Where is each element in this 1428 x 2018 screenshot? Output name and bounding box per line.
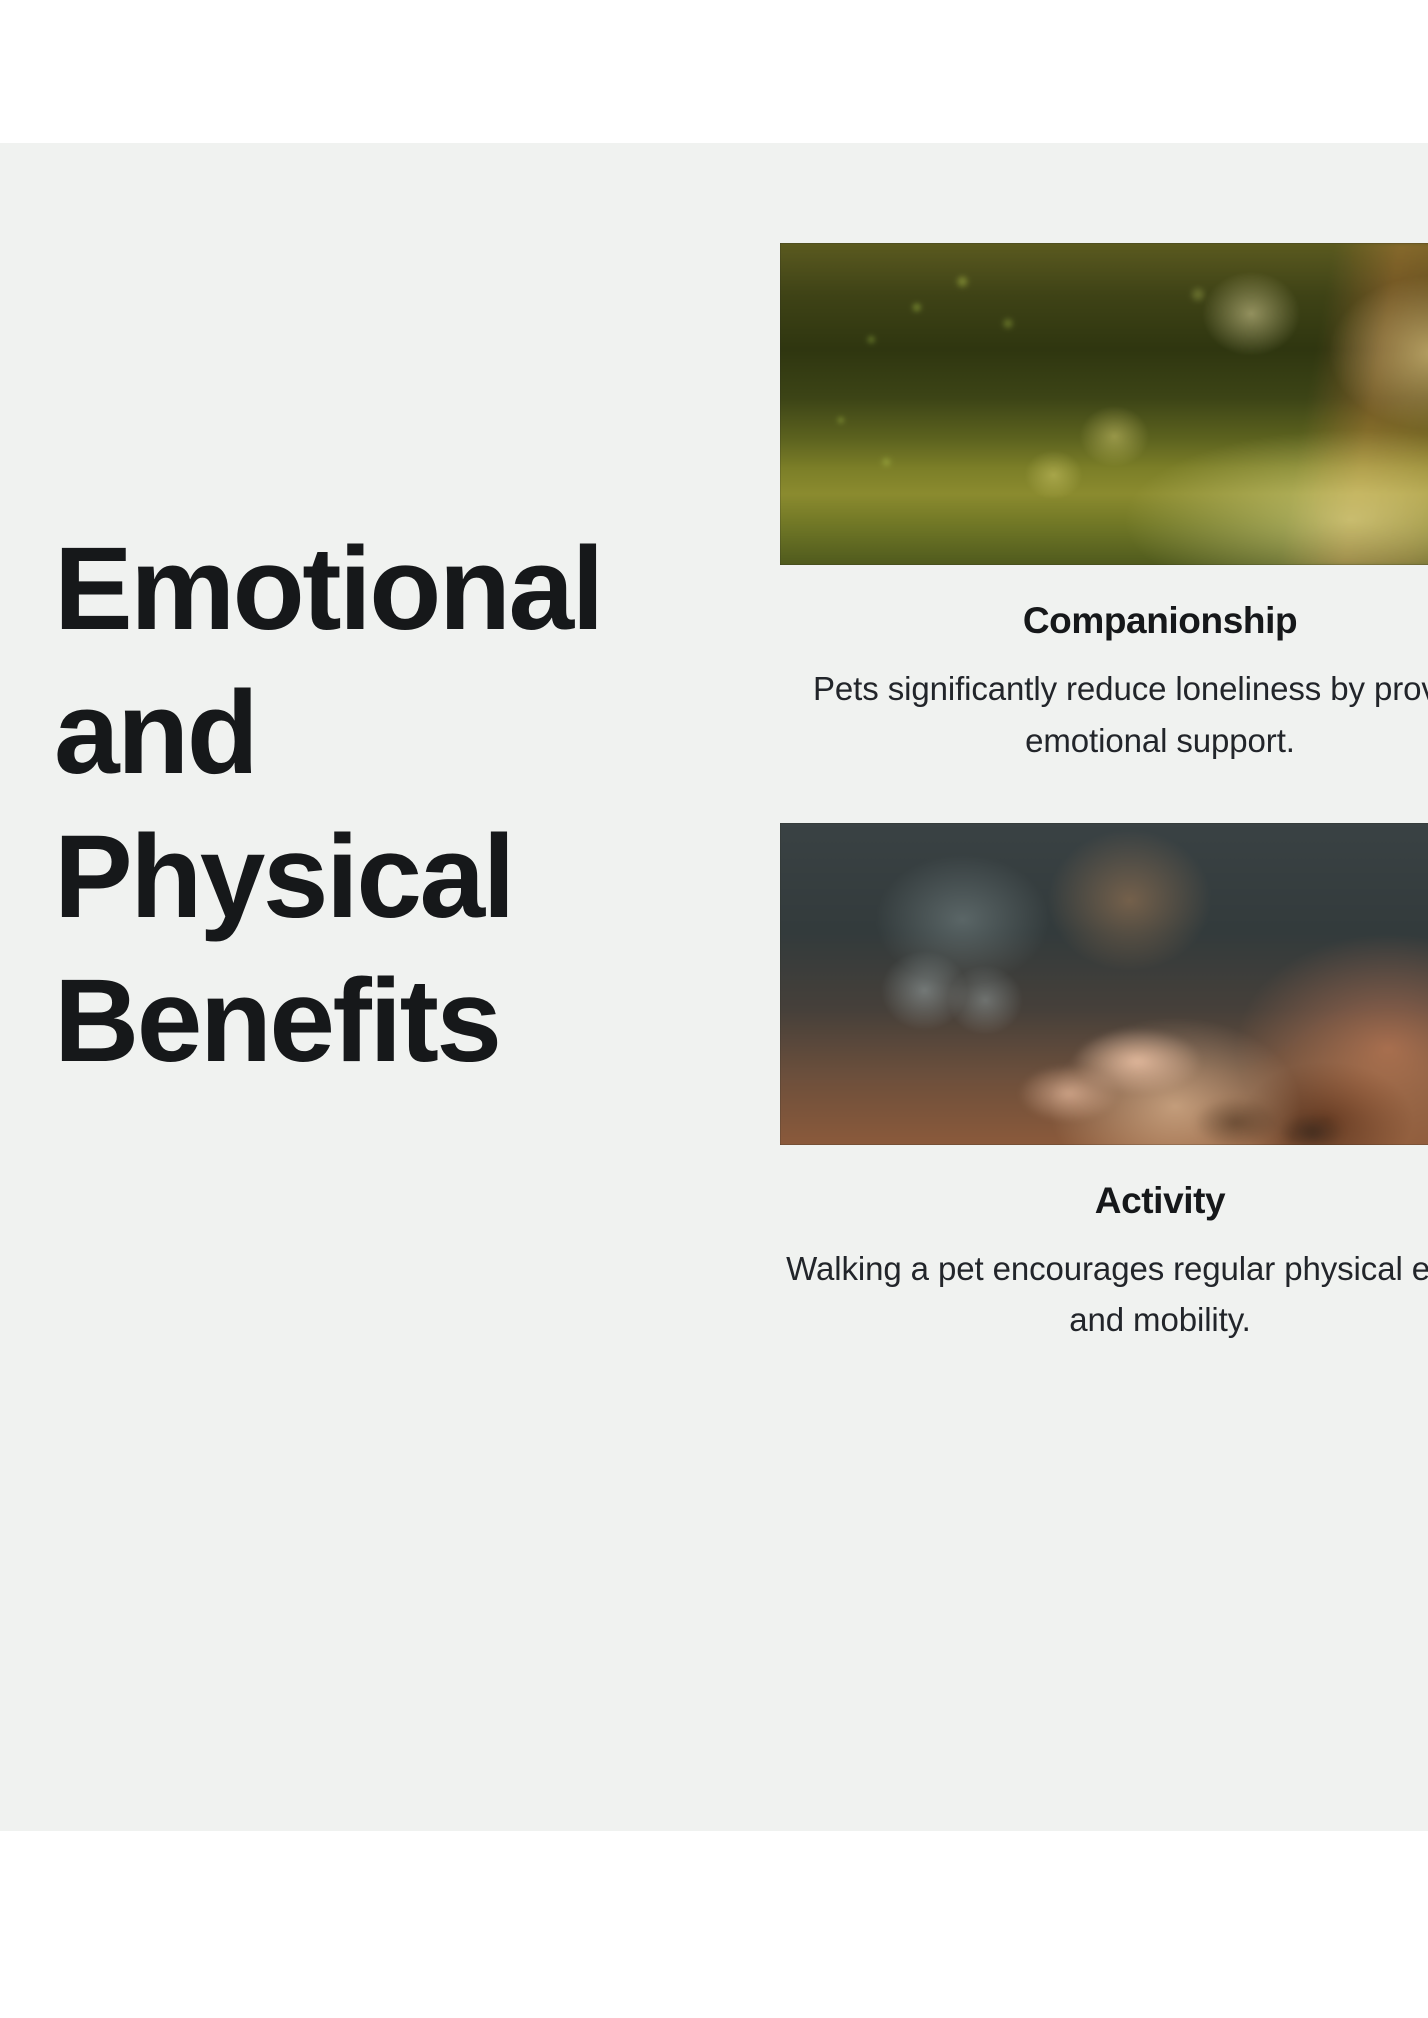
park-photo-image <box>780 243 1428 565</box>
card-image-activity <box>780 823 1428 1145</box>
card-body-activity: Walking a pet encourages regular physica… <box>780 1243 1428 1345</box>
cat-photo-image <box>780 823 1428 1145</box>
card-image-companionship <box>780 243 1428 565</box>
card-title-activity: Activity <box>780 1179 1428 1223</box>
page-title: Emotional and Physical Benefits <box>54 518 714 1094</box>
title-column: Emotional and Physical Benefits <box>54 518 714 1094</box>
card-title-companionship: Companionship <box>780 599 1428 643</box>
card-body-companionship: Pets significantly reduce loneliness by … <box>780 663 1428 765</box>
slide-canvas: Emotional and Physical Benefits Companio… <box>0 143 1428 1831</box>
benefit-cards-column: Companionship Pets significantly reduce … <box>780 243 1428 1345</box>
benefit-card-companionship: Companionship Pets significantly reduce … <box>780 243 1428 766</box>
benefit-card-activity: Activity Walking a pet encourages regula… <box>780 823 1428 1346</box>
